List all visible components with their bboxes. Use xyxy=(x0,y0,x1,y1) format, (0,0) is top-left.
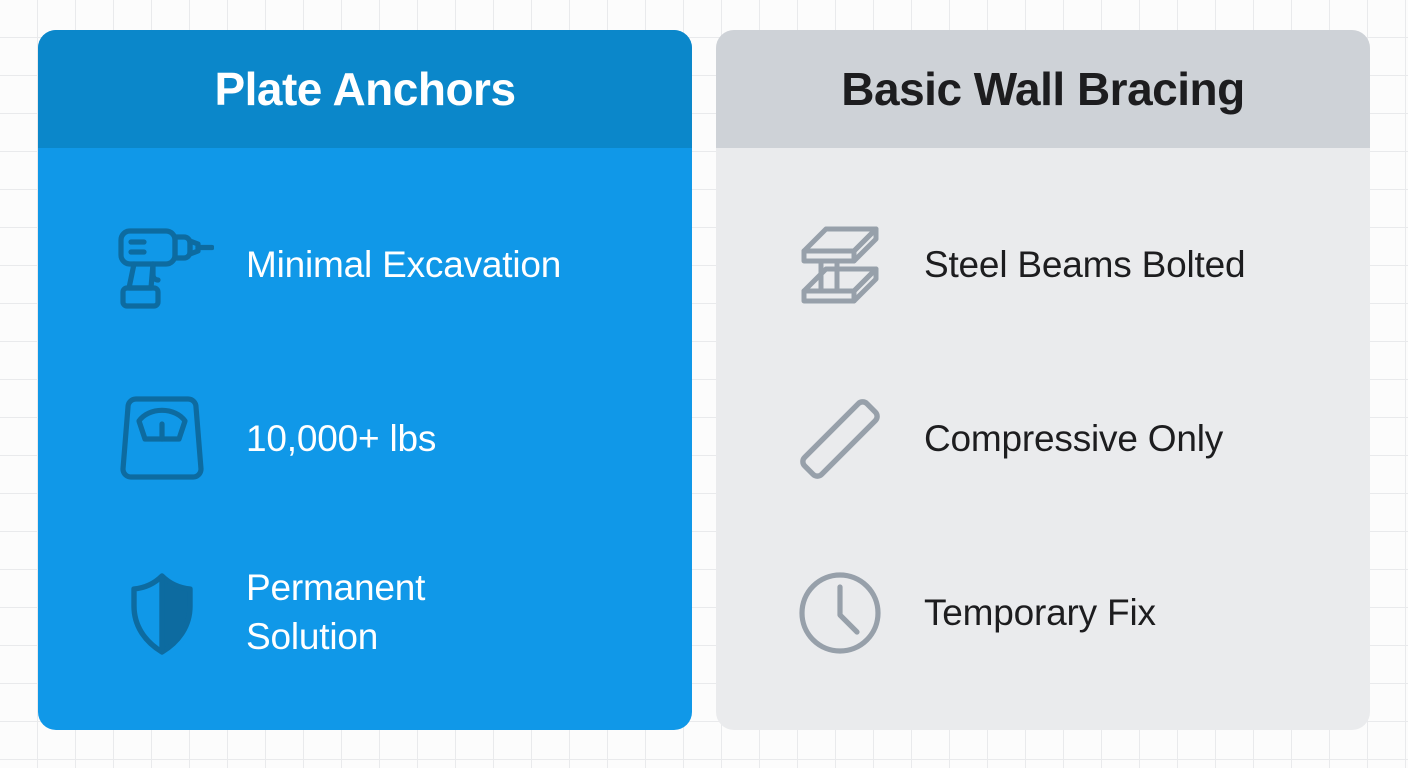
feature-label: Permanent Solution xyxy=(246,564,425,662)
feature-row: 10,000+ lbs xyxy=(38,380,692,498)
shield-icon xyxy=(108,559,216,667)
feature-row: Temporary Fix xyxy=(716,554,1370,672)
drill-icon xyxy=(108,211,216,319)
feature-label: 10,000+ lbs xyxy=(246,415,436,464)
feature-row: Steel Beams Bolted xyxy=(716,206,1370,324)
card-plate-anchors[interactable]: Plate Anchors xyxy=(38,30,692,730)
card-header-plate-anchors: Plate Anchors xyxy=(38,30,692,148)
card-body-plate-anchors: Minimal Excavation 10,000+ lbs xyxy=(38,148,692,730)
card-title: Plate Anchors xyxy=(214,66,515,112)
feature-label: Steel Beams Bolted xyxy=(924,241,1245,290)
diagonal-brace-icon xyxy=(786,385,894,493)
feature-label: Compressive Only xyxy=(924,415,1223,464)
i-beam-icon xyxy=(786,211,894,319)
card-body-basic-wall-bracing: Steel Beams Bolted Compressive Only xyxy=(716,148,1370,730)
feature-row: Permanent Solution xyxy=(38,554,692,672)
clock-icon xyxy=(786,559,894,667)
card-title: Basic Wall Bracing xyxy=(841,66,1244,112)
feature-row: Minimal Excavation xyxy=(38,206,692,324)
feature-row: Compressive Only xyxy=(716,380,1370,498)
weight-scale-icon xyxy=(108,385,216,493)
card-basic-wall-bracing[interactable]: Basic Wall Bracing xyxy=(716,30,1370,730)
comparison-cards-stage: Plate Anchors xyxy=(0,0,1408,768)
feature-label: Minimal Excavation xyxy=(246,241,561,290)
card-header-basic-wall-bracing: Basic Wall Bracing xyxy=(716,30,1370,148)
feature-label: Temporary Fix xyxy=(924,589,1156,638)
